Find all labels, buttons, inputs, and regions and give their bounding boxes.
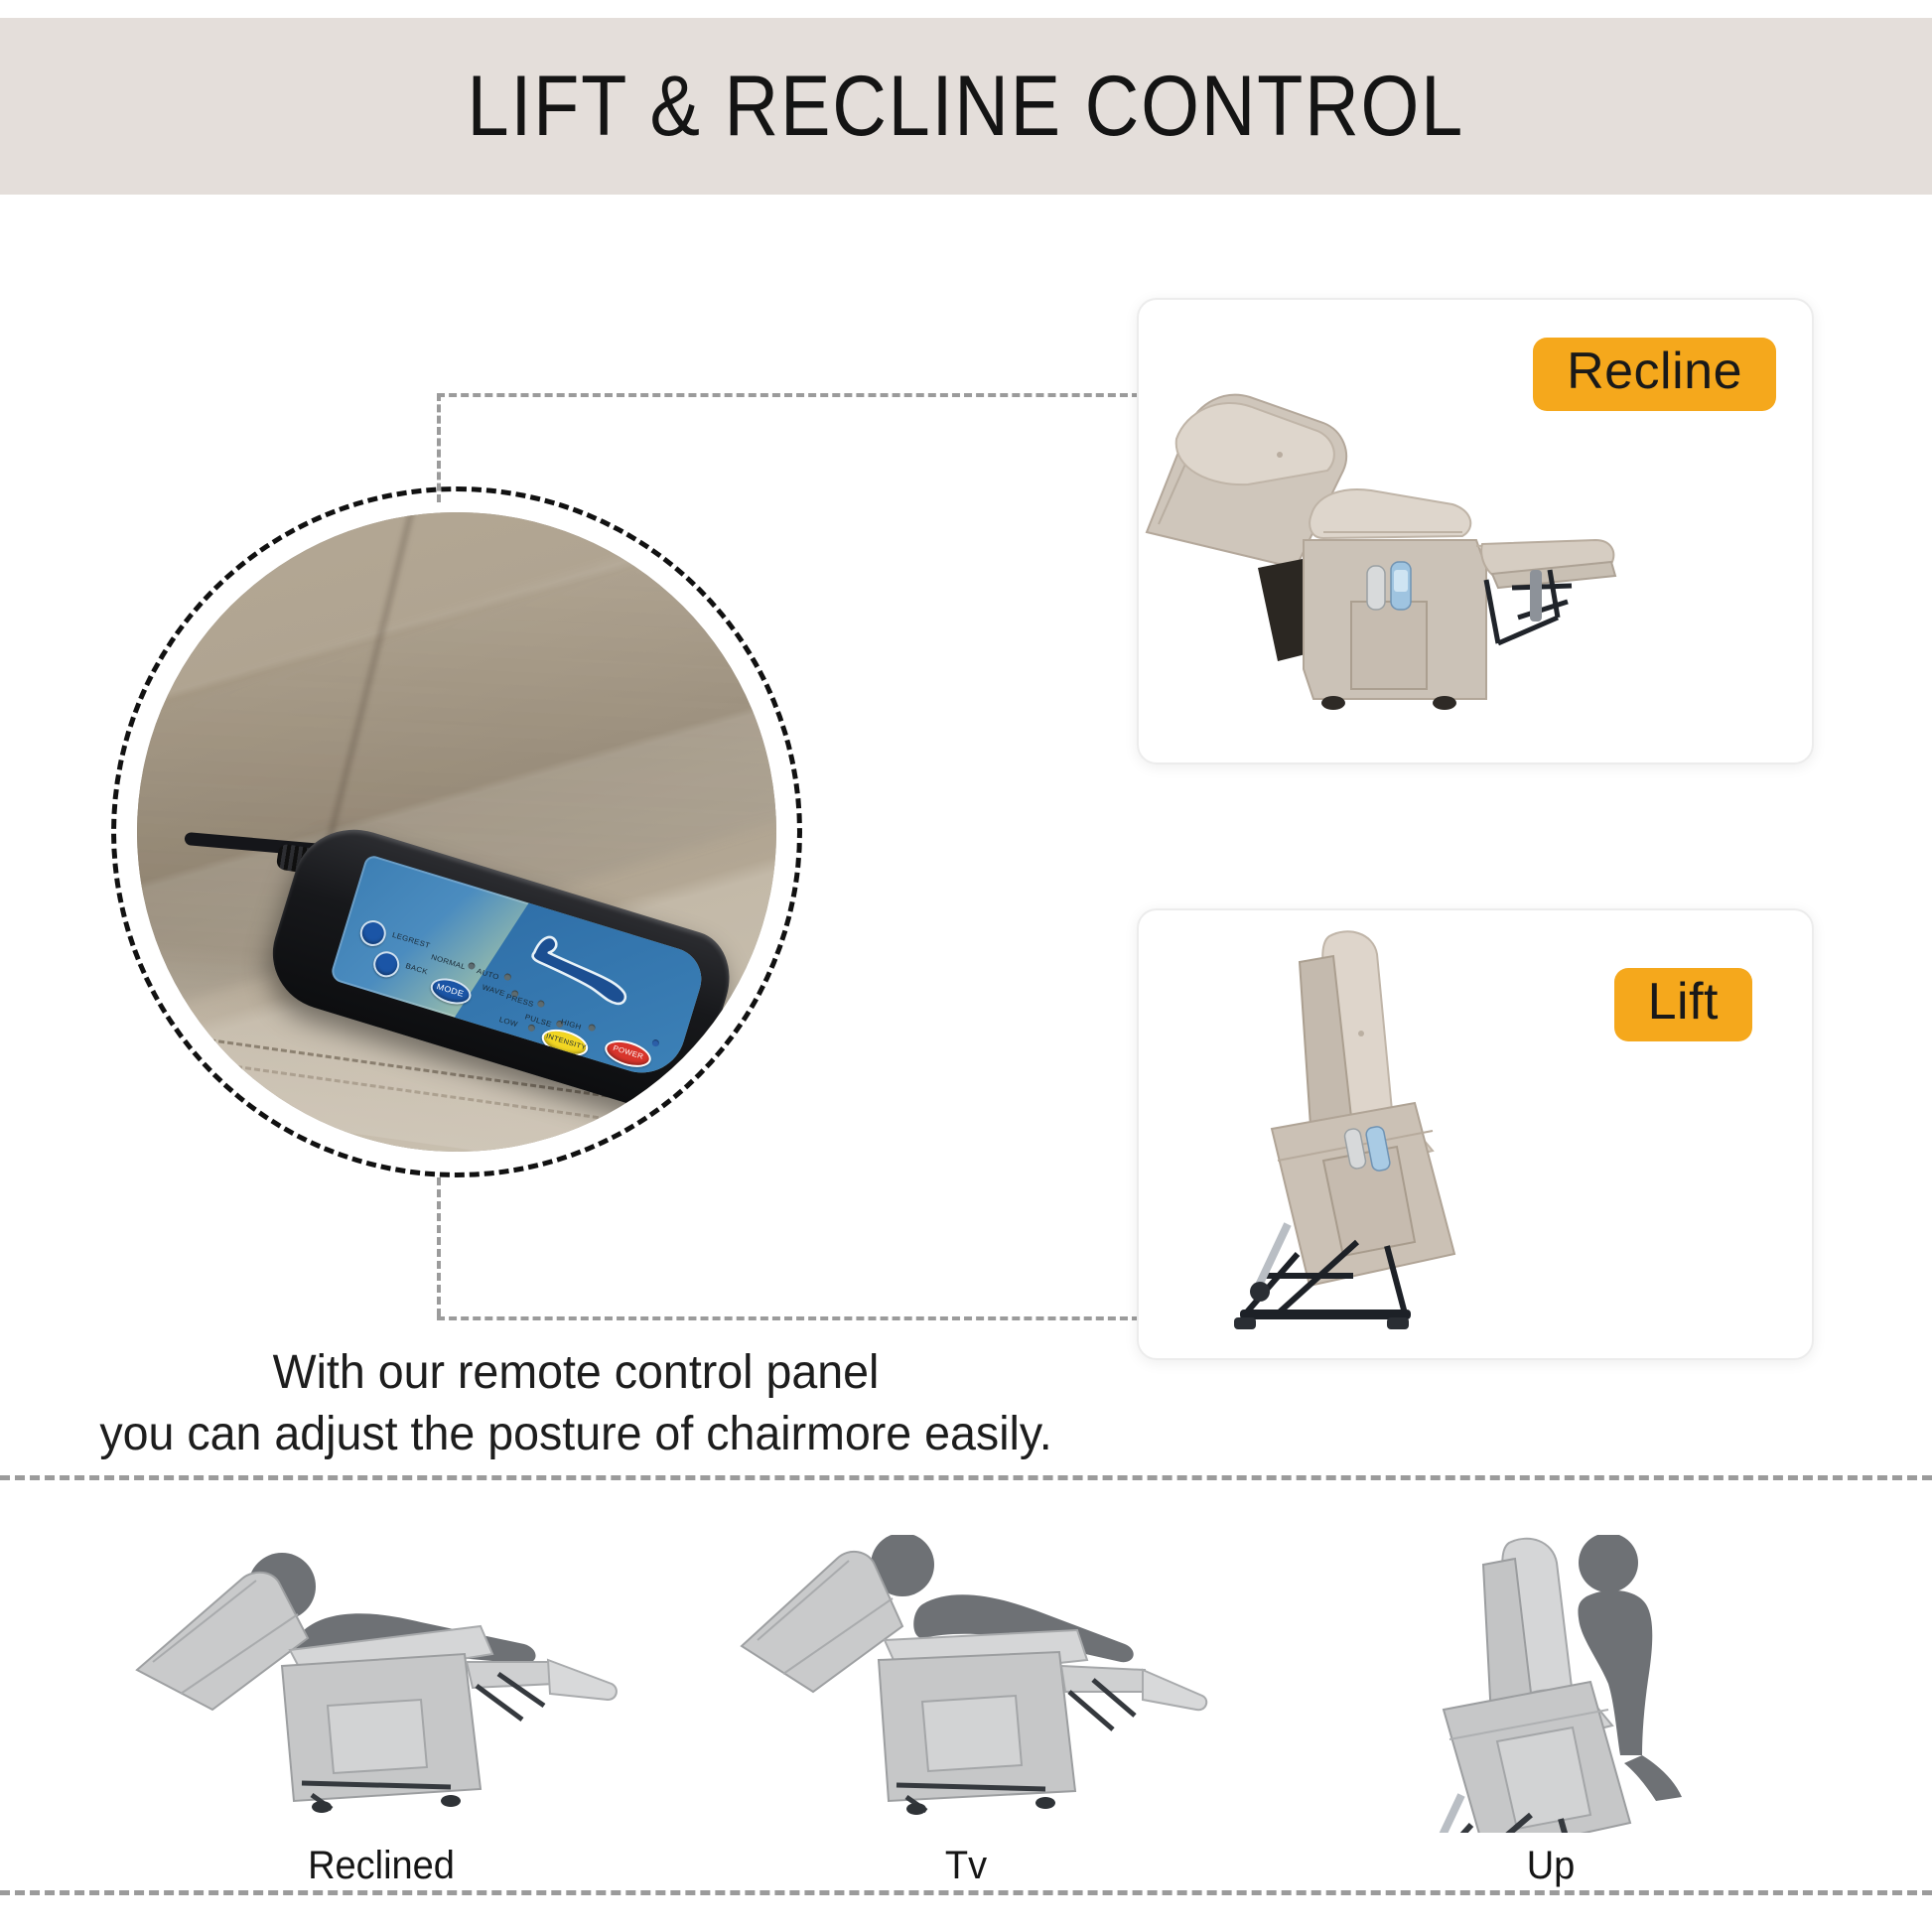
label-back: BACK: [404, 962, 428, 977]
header-banner: LIFT & RECLINE CONTROL: [0, 18, 1932, 195]
recline-card: Recline: [1137, 298, 1814, 764]
pose-up-label: Up: [1306, 1844, 1796, 1888]
lift-badge: Lift: [1614, 968, 1752, 1041]
pose-reclined-label: Reclined: [136, 1844, 626, 1888]
lift-badge-label: Lift: [1648, 972, 1719, 1032]
caption-block: With our remote control panel you can ad…: [17, 1342, 1134, 1466]
divider-bottom: [0, 1890, 1932, 1895]
remote-closeup-callout: LEGREST BACK MODE NORMAL AUTO WAVE PRESS…: [111, 486, 802, 1177]
pose-tv-illustration: [708, 1535, 1224, 1833]
caption-line-2: you can adjust the posture of chairmore …: [17, 1404, 1134, 1465]
recline-badge-label: Recline: [1567, 342, 1742, 401]
button-legrest[interactable]: [357, 917, 389, 949]
pose-reclined: Reclined: [123, 1511, 639, 1888]
pose-row: Reclined: [0, 1501, 1932, 1888]
connector-line-bottom-vertical: [437, 1177, 441, 1316]
remote-closeup-photo: LEGREST BACK MODE NORMAL AUTO WAVE PRESS…: [137, 512, 776, 1152]
connector-line-top-horizontal: [437, 393, 1140, 397]
pose-up: Up: [1293, 1511, 1809, 1888]
lift-card: Lift: [1137, 908, 1814, 1360]
recline-badge: Recline: [1533, 338, 1776, 411]
pose-reclined-illustration: [123, 1535, 639, 1833]
led-normal: [468, 962, 477, 971]
divider-top: [0, 1475, 1932, 1480]
recliner-lifted-illustration: [1149, 926, 1625, 1353]
button-back[interactable]: [370, 948, 402, 980]
pose-tv-label: Tv: [721, 1844, 1211, 1888]
pose-tv: Tv: [708, 1511, 1224, 1888]
label-normal: NORMAL: [430, 953, 467, 971]
pose-up-illustration: [1293, 1535, 1809, 1833]
connector-line-bottom-horizontal: [437, 1316, 1140, 1320]
page-title: LIFT & RECLINE CONTROL: [468, 58, 1465, 156]
caption-line-1: With our remote control panel: [17, 1342, 1134, 1404]
label-legrest: LEGREST: [391, 930, 431, 949]
